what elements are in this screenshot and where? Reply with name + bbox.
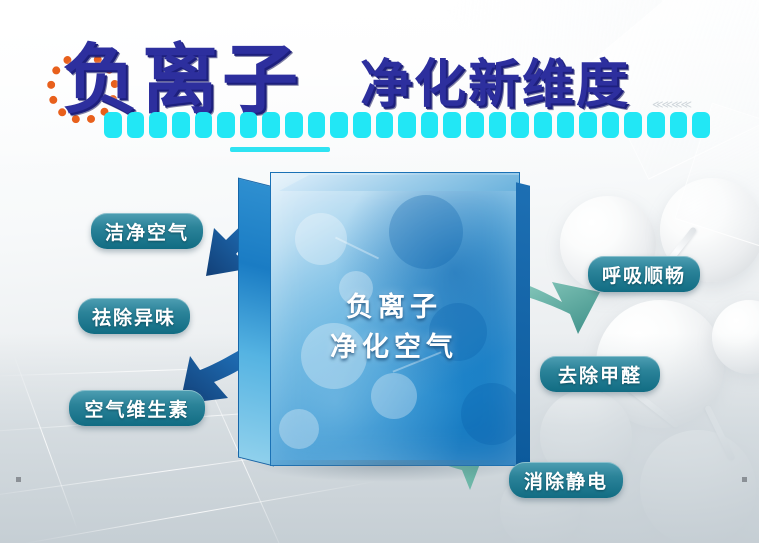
- box-caption: 负离子 净化空气: [270, 288, 518, 368]
- label-text: 洁净空气: [105, 218, 189, 245]
- cyan-dash: [443, 112, 461, 138]
- cyan-dash: [692, 112, 710, 138]
- box-caption-line1: 负离子: [270, 288, 518, 328]
- center-box: 负离子 净化空气: [230, 168, 550, 488]
- cyan-dash: [353, 112, 371, 138]
- cyan-dash: [330, 112, 348, 138]
- cyan-dash: [262, 112, 280, 138]
- cyan-dash: [579, 112, 597, 138]
- corner-dot: [742, 477, 747, 482]
- cyan-dash: [534, 112, 552, 138]
- cyan-dash: [127, 112, 145, 138]
- label-text: 呼吸顺畅: [602, 261, 686, 288]
- cyan-dash: [624, 112, 642, 138]
- cyan-dash: [602, 112, 620, 138]
- cyan-dash: [421, 112, 439, 138]
- label-clean-air[interactable]: 洁净空气: [91, 213, 203, 249]
- label-text: 消除静电: [524, 467, 608, 494]
- label-air-vitamin[interactable]: 空气维生素: [69, 390, 205, 426]
- molecule-sphere: [640, 430, 756, 543]
- bubble: [461, 383, 520, 445]
- molecule-sphere: [712, 300, 759, 374]
- label-remove-static[interactable]: 消除静电: [509, 462, 623, 498]
- label-text: 去除甲醛: [558, 361, 642, 388]
- cyan-dash: [285, 112, 303, 138]
- bubble: [279, 409, 319, 449]
- label-smooth-breathing[interactable]: 呼吸顺畅: [588, 256, 700, 292]
- cyan-dash: [308, 112, 326, 138]
- cyan-dash-bar: [104, 112, 710, 138]
- box-top-face: [279, 175, 520, 191]
- box-caption-line2: 净化空气: [270, 328, 518, 368]
- cyan-underline: [230, 147, 330, 152]
- cyan-dash: [172, 112, 190, 138]
- bubble: [389, 195, 463, 269]
- cyan-dash: [217, 112, 235, 138]
- cyan-dash: [398, 112, 416, 138]
- poster-canvas: ≪≪≪≪ 负离子 净化新维度: [0, 0, 759, 543]
- label-remove-formaldehyde[interactable]: 去除甲醛: [540, 356, 660, 392]
- floor-line: [12, 351, 78, 530]
- cyan-dash: [149, 112, 167, 138]
- box-left-side: [238, 178, 274, 467]
- header: 负离子 净化新维度: [0, 0, 759, 160]
- label-text: 空气维生素: [84, 395, 189, 422]
- label-remove-odor[interactable]: 祛除异味: [78, 298, 190, 334]
- cyan-dash: [647, 112, 665, 138]
- label-text: 祛除异味: [92, 303, 176, 330]
- cyan-dash: [466, 112, 484, 138]
- cyan-dash: [557, 112, 575, 138]
- cyan-dash: [376, 112, 394, 138]
- molecule-bond: [704, 405, 736, 462]
- cyan-dash: [511, 112, 529, 138]
- page-subtitle: 净化新维度: [360, 42, 630, 117]
- floor-line: [23, 481, 378, 543]
- box-drop-shadow: [250, 460, 530, 482]
- cyan-dash: [670, 112, 688, 138]
- corner-dot: [16, 477, 21, 482]
- cyan-dash: [489, 112, 507, 138]
- cyan-dash: [104, 112, 122, 138]
- box-right-edge: [516, 182, 530, 467]
- bubble: [371, 373, 417, 419]
- cyan-dash: [240, 112, 258, 138]
- cyan-dash: [195, 112, 213, 138]
